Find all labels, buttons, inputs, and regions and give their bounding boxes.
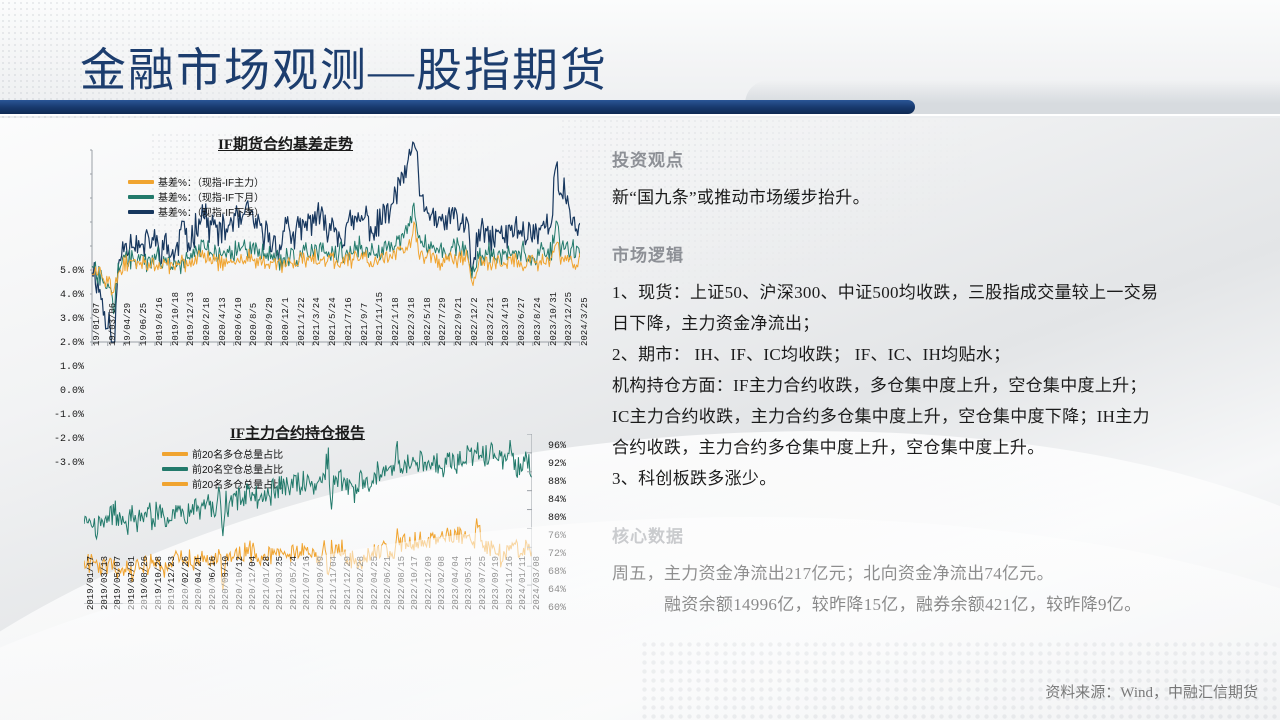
chart1-xtick-24: 2022/12/2 <box>470 297 480 346</box>
chart2-xtick-30: 2023/09/19 <box>491 556 501 610</box>
chart1-xtick-12: 2020/12/1 <box>281 297 291 346</box>
chart2-xtick-17: 2021/09/09 <box>316 556 326 610</box>
legend-swatch-green-icon <box>128 195 154 199</box>
core-data-line-0: 周五，主力资金净流出217亿元；北向资金净流出74亿元。 <box>612 558 1262 589</box>
chart1-ytick-4: 1.0% <box>28 362 84 373</box>
chart1-xtick-20: 2022/3/18 <box>407 297 417 346</box>
chart1-xtick-21: 2022/5/18 <box>423 297 433 346</box>
section-heading-core-data: 核心数据 <box>612 522 1262 547</box>
chart1-xtick-18: 2021/11/15 <box>375 292 385 346</box>
chart1-legend-item-0: 基差%：（现指-IF主力） <box>128 174 264 189</box>
slide-root: 金融市场观测—股指期货 IF期货合约基差走势 5.0% 4.0% 3.0% 2.… <box>0 0 1280 720</box>
chart2-xtick-26: 2023/02/08 <box>437 556 447 610</box>
chart2-xtick-18: 2021/11/04 <box>329 556 339 610</box>
chart2-xtick-13: 2021/01/28 <box>262 556 272 610</box>
chart2-xtick-24: 2022/10/17 <box>410 556 420 610</box>
chart2-ytick-0: 96% <box>548 441 566 452</box>
header-accent-bar <box>0 100 915 114</box>
chart1-xtick-8: 2020/4/13 <box>218 297 228 346</box>
chart2-xtick-9: 2020/06/16 <box>208 556 218 610</box>
chart2-xtick-29: 2023/07/25 <box>478 556 488 610</box>
chart1-xtick-28: 2023/8/24 <box>533 297 543 346</box>
chart2-xtick-12: 2020/12/04 <box>248 556 258 610</box>
chart1-xtick-31: 2024/3/25 <box>580 297 590 346</box>
chart1-xtick-2: 19/04/29 <box>123 303 133 346</box>
chart1-legend-label-2: 基差%：（现指-IF下季） <box>158 204 264 219</box>
chart1-xtick-29: 2023/10/31 <box>549 292 559 346</box>
chart1-ytick-0: 5.0% <box>28 266 84 277</box>
commentary-column: 投资观点 新“国九条”或推动市场缓步抬升。 市场逻辑 1、现货：上证50、沪深3… <box>612 146 1262 620</box>
chart1-ytick-1: 4.0% <box>28 290 84 301</box>
chart1-xtick-14: 2021/3/24 <box>312 297 322 346</box>
spacer <box>612 213 1262 241</box>
chart2-xtick-1: 2019/03/13 <box>100 556 110 610</box>
chart1-xtick-17: 2021/9/7 <box>360 303 370 346</box>
chart2-ytick-2: 88% <box>548 477 566 488</box>
chart1-xtick-16: 2021/7/16 <box>344 297 354 346</box>
chart2-xtick-14: 2021/03/25 <box>275 556 285 610</box>
chart2-xtick-22: 2022/06/21 <box>383 556 393 610</box>
chart2-xtick-2: 2019/05/07 <box>113 556 123 610</box>
chart1-xtick-19: 2022/1/18 <box>391 297 401 346</box>
market-logic-line-1: 日下降，主力资金净流出； <box>612 308 1262 339</box>
chart1-ytick-5: 0.0% <box>28 386 84 397</box>
chart2-xtick-23: 2022/08/15 <box>397 556 407 610</box>
chart2-ytick-7: 68% <box>548 567 566 578</box>
chart1-xtick-7: 2020/2/18 <box>202 297 212 346</box>
chart1-legend-item-2: 基差%：（现指-IF下季） <box>128 204 264 219</box>
chart2-xtick-10: 2020/08/10 <box>221 556 231 610</box>
chart1-xtick-26: 2023/4/19 <box>501 297 511 346</box>
chart1-xtick-15: 2021/5/24 <box>328 297 338 346</box>
section-heading-market-logic: 市场逻辑 <box>612 241 1262 266</box>
chart1-xtick-4: 2019/8/16 <box>155 297 165 346</box>
legend-swatch-navy-icon <box>128 210 154 214</box>
chart1-xtick-10: 2020/8/5 <box>249 303 259 346</box>
chart2-ytick-3: 84% <box>548 495 566 506</box>
chart1-xtick-13: 2021/1/22 <box>297 297 307 346</box>
chart2-xtick-16: 2021/07/16 <box>302 556 312 610</box>
chart2-xtick-32: 2024/01/11 <box>518 556 528 610</box>
chart2-xtick-7: 2020/02/26 <box>181 556 191 610</box>
chart1-legend-label-0: 基差%：（现指-IF主力） <box>158 174 264 189</box>
chart2-ytick-5: 76% <box>548 531 566 542</box>
market-logic-line-4: IC主力合约收跌，主力合约多仓集中度上升，空仓集中度下降；IH主力 <box>612 401 1262 432</box>
chart1-legend-label-1: 基差%：（现指-IF下月） <box>158 189 264 204</box>
market-logic-line-3: 机构持仓方面：IF主力合约收跌，多仓集中度上升，空仓集中度上升； <box>612 370 1262 401</box>
chart1-xtick-22: 2022/7/29 <box>438 297 448 346</box>
chart1-legend-item-1: 基差%：（现指-IF下月） <box>128 189 264 204</box>
chart1-xtick-5: 2019/10/18 <box>171 292 181 346</box>
spacer <box>612 494 1262 522</box>
chart2-ytick-6: 72% <box>548 549 566 560</box>
chart2-ytick-1: 92% <box>548 459 566 470</box>
chart1-ytick-2: 3.0% <box>28 314 84 325</box>
chart2-xtick-21: 2022/04/25 <box>370 556 380 610</box>
chart1-xtick-11: 2020/9/29 <box>265 297 275 346</box>
chart2-ytick-4: 80% <box>548 513 566 524</box>
header-divider <box>0 114 1280 116</box>
chart2-xtick-15: 2021/05/24 <box>289 556 299 610</box>
core-data-line-1: 融资余额14996亿，较昨降15亿，融券余额421亿，较昨降9亿。 <box>612 589 1262 620</box>
chart1-xtick-30: 2023/12/25 <box>564 292 574 346</box>
chart1-xtick-23: 2022/9/21 <box>454 297 464 346</box>
section-heading-investment-view: 投资观点 <box>612 146 1262 171</box>
chart2-xtick-31: 2023/11/16 <box>505 556 515 610</box>
investment-view-line: 新“国九条”或推动市场缓步抬升。 <box>612 182 1262 213</box>
page-title: 金融市场观测—股指期货 <box>80 34 608 100</box>
chart2-xtick-33: 2024/03/08 <box>532 556 542 610</box>
chart2-xtick-4: 2019/08/26 <box>140 556 150 610</box>
chart2-xtick-20: 2022/02/28 <box>356 556 366 610</box>
market-logic-line-6: 3、科创板跌多涨少。 <box>612 463 1262 494</box>
chart2-ytick-8: 64% <box>548 585 566 596</box>
chart1-xtick-1: 19/03/06 <box>108 303 118 346</box>
market-logic-line-2: 2、期市： IH、IF、IC均收跌； IF、IC、IH均贴水； <box>612 339 1262 370</box>
source-note: 资料来源：Wind，中融汇信期货 <box>1045 681 1258 702</box>
chart2-xtick-27: 2023/04/04 <box>451 556 461 610</box>
chart2-xtick-28: 2023/05/31 <box>464 556 474 610</box>
chart2-xtick-6: 2019/12/23 <box>167 556 177 610</box>
legend-swatch-orange-icon <box>128 180 154 184</box>
chart1-xtick-6: 2019/12/13 <box>186 292 196 346</box>
chart2-xtick-11: 2020/10/12 <box>235 556 245 610</box>
chart1-xtick-3: 19/06/25 <box>139 303 149 346</box>
chart-if-basis-trend: IF期货合约基差走势 5.0% 4.0% 3.0% 2.0% 1.0% 0.0%… <box>18 130 578 420</box>
chart2-xtick-19: 2021/12/29 <box>343 556 353 610</box>
chart2-xtick-25: 2022/12/09 <box>424 556 434 610</box>
chart1-xtick-0: 19/01/07 <box>92 303 102 346</box>
chart1-legend: 基差%：（现指-IF主力） 基差%：（现指-IF下月） 基差%：（现指-IF下季… <box>128 174 264 219</box>
market-logic-line-5: 合约收跌，主力合约多仓集中度上升，空仓集中度上升。 <box>612 432 1262 463</box>
chart1-xtick-25: 2023/2/21 <box>486 297 496 346</box>
chart1-xtick-9: 2020/6/10 <box>234 297 244 346</box>
chart2-xtick-5: 2019/10/28 <box>154 556 164 610</box>
chart1-ytick-3: 2.0% <box>28 338 84 349</box>
chart2-ytick-9: 60% <box>548 603 566 614</box>
chart2-xtick-8: 2020/04/21 <box>194 556 204 610</box>
chart2-xtick-3: 2019/07/01 <box>127 556 137 610</box>
market-logic-line-0: 1、现货：上证50、沪深300、中证500均收跌，三股指成交量较上一交易 <box>612 277 1262 308</box>
chart-if-position-report: IF主力合约持仓报告 前20名多仓总量占比 前20名空仓总量占比 前20名多仓总… <box>18 420 578 710</box>
chart2-xtick-0: 2019/01/17 <box>86 556 96 610</box>
chart1-xtick-27: 2023/6/27 <box>517 297 527 346</box>
dot-pattern-footer <box>640 640 1280 720</box>
